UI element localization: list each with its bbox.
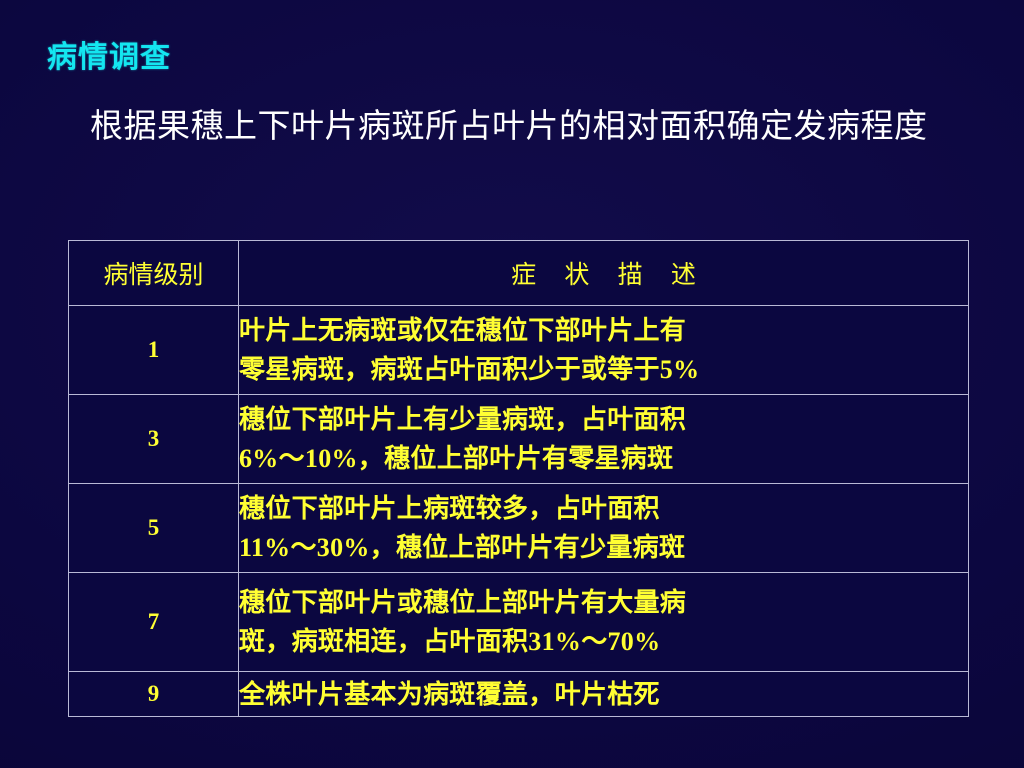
cell-level: 5 (69, 484, 239, 573)
slide-canvas: 病情调查 根据果穗上下叶片病斑所占叶片的相对面积确定发病程度 病情级别 症 状 … (0, 0, 1024, 768)
table-row: 9全株叶片基本为病斑覆盖，叶片枯死 (69, 672, 969, 717)
cell-level: 7 (69, 573, 239, 672)
cell-description: 穗位下部叶片或穗位上部叶片有大量病斑，病斑相连，占叶面积31%～70% (239, 573, 969, 672)
table-body: 1叶片上无病斑或仅在穗位下部叶片上有零星病斑，病斑占叶面积少于或等于5%3穗位下… (69, 306, 969, 717)
cell-level: 3 (69, 395, 239, 484)
cell-level: 1 (69, 306, 239, 395)
description-line: 穗位下部叶片上病斑较多，占叶面积 (239, 489, 968, 528)
lead-paragraph: 根据果穗上下叶片病斑所占叶片的相对面积确定发病程度 (46, 104, 976, 150)
column-header-level: 病情级别 (69, 241, 239, 306)
description-line: 零星病斑，病斑占叶面积少于或等于5% (239, 350, 968, 389)
table-row: 7穗位下部叶片或穗位上部叶片有大量病斑，病斑相连，占叶面积31%～70% (69, 573, 969, 672)
table-row: 3穗位下部叶片上有少量病斑，占叶面积6%～10%，穗位上部叶片有零星病斑 (69, 395, 969, 484)
page-title: 病情调查 (47, 40, 171, 76)
column-header-description: 症 状 描 述 (239, 241, 969, 306)
description-line: 11%～30%，穗位上部叶片有少量病斑 (239, 528, 968, 567)
table-header: 病情级别 症 状 描 述 (69, 241, 969, 306)
cell-description: 穗位下部叶片上有少量病斑，占叶面积6%～10%，穗位上部叶片有零星病斑 (239, 395, 969, 484)
cell-level: 9 (69, 672, 239, 717)
table-row: 1叶片上无病斑或仅在穗位下部叶片上有零星病斑，病斑占叶面积少于或等于5% (69, 306, 969, 395)
table-row: 5穗位下部叶片上病斑较多，占叶面积11%～30%，穗位上部叶片有少量病斑 (69, 484, 969, 573)
cell-description: 叶片上无病斑或仅在穗位下部叶片上有零星病斑，病斑占叶面积少于或等于5% (239, 306, 969, 395)
cell-description: 全株叶片基本为病斑覆盖，叶片枯死 (239, 672, 969, 717)
description-line: 斑，病斑相连，占叶面积31%～70% (239, 622, 968, 661)
description-line: 叶片上无病斑或仅在穗位下部叶片上有 (239, 311, 968, 350)
description-line: 穗位下部叶片或穗位上部叶片有大量病 (239, 583, 968, 622)
description-line: 穗位下部叶片上有少量病斑，占叶面积 (239, 400, 968, 439)
disease-grade-table: 病情级别 症 状 描 述 1叶片上无病斑或仅在穗位下部叶片上有零星病斑，病斑占叶… (68, 240, 969, 717)
description-line: 6%～10%，穗位上部叶片有零星病斑 (239, 439, 968, 478)
cell-description: 穗位下部叶片上病斑较多，占叶面积11%～30%，穗位上部叶片有少量病斑 (239, 484, 969, 573)
table-header-row: 病情级别 症 状 描 述 (69, 241, 969, 306)
description-line: 全株叶片基本为病斑覆盖，叶片枯死 (239, 675, 968, 714)
